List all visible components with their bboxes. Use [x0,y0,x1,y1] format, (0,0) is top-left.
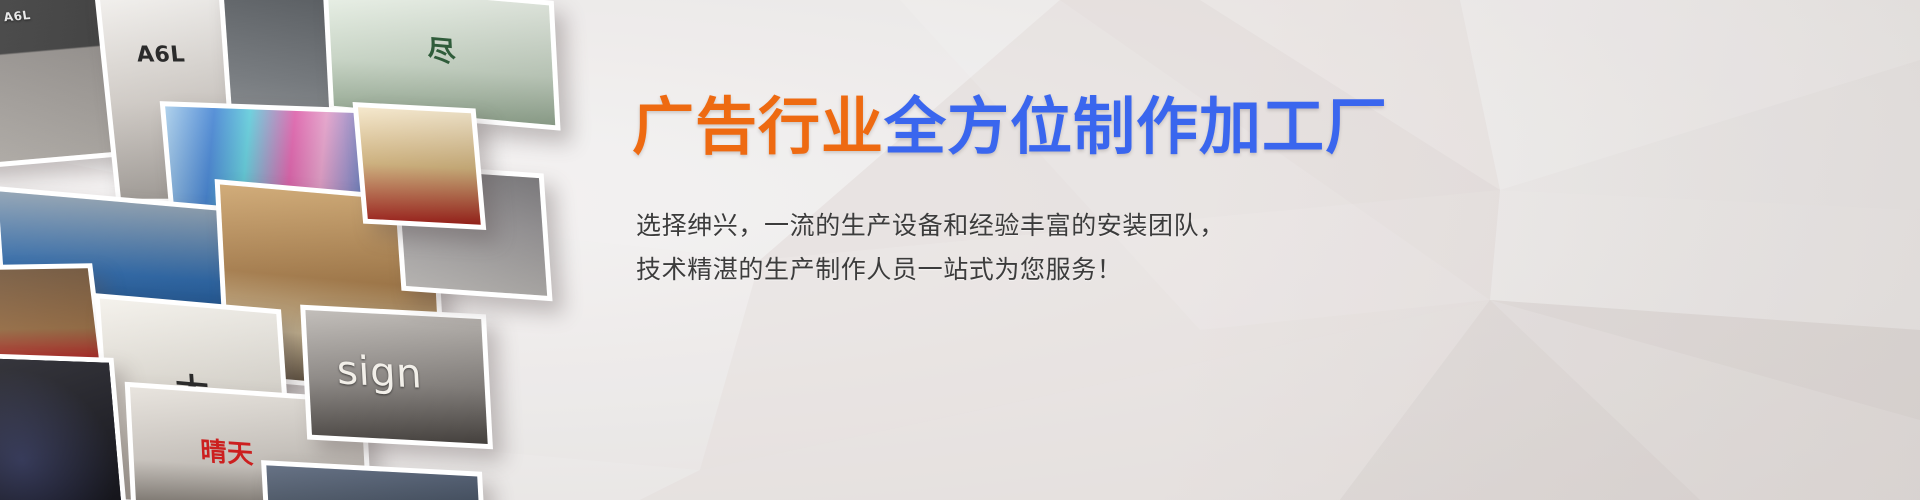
collage-photo-night-shop-row [261,460,488,500]
subtitle-line-1: 选择绅兴，一流的生产设备和经验丰富的安装团队， [636,204,1396,248]
banner-subtitle: 选择绅兴，一流的生产设备和经验丰富的安装团队， 技术精湛的生产制作人员一站式为您… [636,204,1396,292]
subtitle-line-2: 技术精湛的生产制作人员一站式为您服务！ [636,248,1396,292]
collage-photo-food-poster [353,102,487,230]
collage-caption: A6L [3,8,32,24]
collage-caption: A6L [136,43,187,68]
headline-segment-orange: 广告行业 [632,90,884,163]
collage-photo-iphone-lightbox: iPhone [0,351,130,500]
collage-caption: 尽 [426,28,457,70]
banner-copy: 广告行业全方位制作加工厂 选择绅兴，一流的生产设备和经验丰富的安装团队， 技术精… [636,96,1396,292]
collage-caption: sign [336,347,423,397]
page-title: 广告行业全方位制作加工厂 [632,96,1396,158]
photo-collage: A6L A6L 尽 [0,0,575,500]
headline-segment-blue: 全方位制作加工厂 [884,90,1388,163]
promo-banner: A6L A6L 尽 [0,0,1920,500]
collage-photo-sign-letters-3d: sign [300,305,493,450]
collage-caption: 晴天 [199,431,254,472]
